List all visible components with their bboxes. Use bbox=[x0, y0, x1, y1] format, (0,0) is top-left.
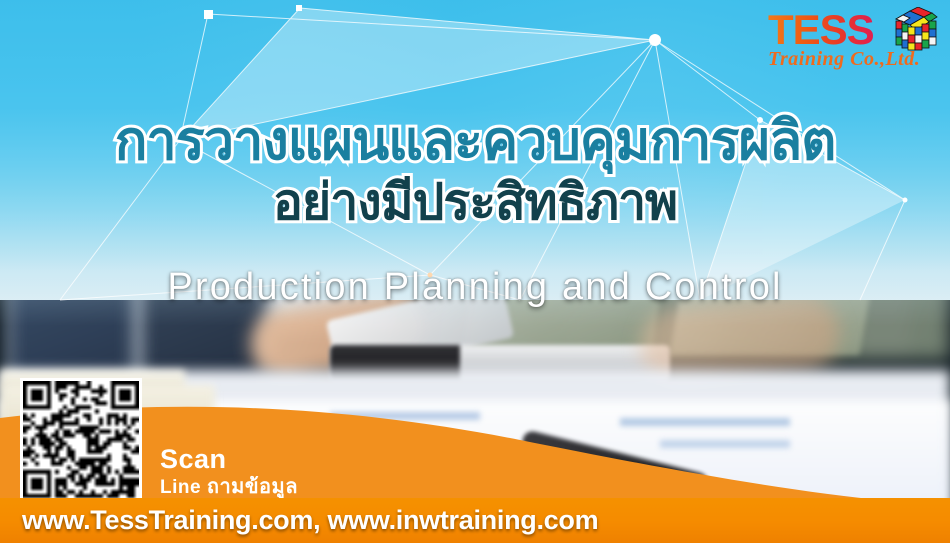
subtitle-english: Production Planning and Control bbox=[0, 266, 950, 309]
scan-label: Scan bbox=[160, 446, 298, 473]
scan-line-thai: ถามข้อมูล bbox=[207, 474, 298, 498]
rubiks-cube-icon bbox=[892, 7, 938, 51]
headline-line-1: การวางแผนและควบคุมการผลิต bbox=[0, 112, 950, 170]
footer-bar: www.TessTraining.com, www.inwtraining.co… bbox=[0, 498, 950, 543]
logo-tagline: Training Co.,Ltd. bbox=[768, 48, 920, 71]
tess-logo[interactable]: TESS bbox=[754, 2, 944, 82]
qr-code-icon[interactable] bbox=[20, 378, 142, 505]
scan-line-prefix: Line bbox=[160, 477, 201, 498]
headline-line-2: อย่างมีประสิทธิภาพ bbox=[0, 174, 950, 230]
page-title: การวางแผนและควบคุมการผลิต อย่างมีประสิทธ… bbox=[0, 112, 950, 230]
website-urls[interactable]: www.TessTraining.com, www.inwtraining.co… bbox=[22, 505, 598, 536]
logo-wordmark: TESS bbox=[768, 6, 874, 54]
scan-callout: Scan Line ถามข้อมูล bbox=[160, 446, 298, 499]
promotional-poster: TESS bbox=[0, 0, 950, 543]
scan-line-label: Line ถามข้อมูล bbox=[160, 475, 298, 499]
